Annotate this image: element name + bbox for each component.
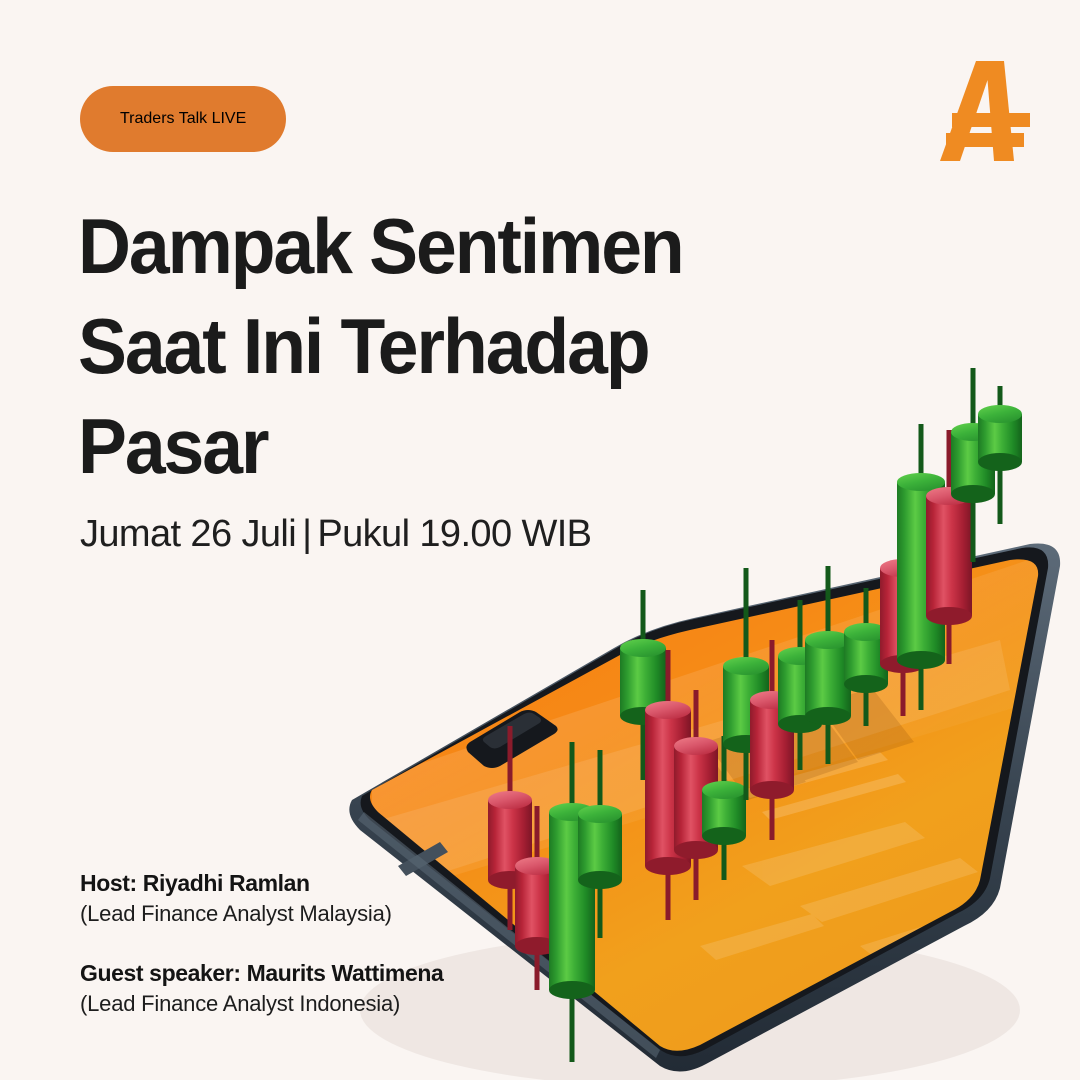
candle-bear-14 bbox=[880, 508, 926, 716]
guest-credit: Guest speaker: Maurits Wattimena (Lead F… bbox=[80, 958, 540, 1020]
candle-bull-9 bbox=[723, 568, 769, 800]
candle-bear-6 bbox=[645, 650, 691, 920]
host-name: Host: Riyadhi Ramlan bbox=[80, 868, 540, 898]
guest-name: Guest speaker: Maurits Wattimena bbox=[80, 958, 540, 988]
candle-bull-12 bbox=[805, 566, 851, 764]
promo-poster: Traders Talk LIVE Dampak Sentimen Saat I… bbox=[0, 0, 1080, 1080]
candle-bull-5 bbox=[620, 590, 666, 780]
candle-bear-7 bbox=[674, 690, 718, 900]
event-date: Jumat 26 Juli bbox=[80, 513, 296, 555]
candle-bull-8 bbox=[702, 736, 746, 880]
event-schedule: Jumat 26 Juli|Pukul 19.00 WIB bbox=[80, 513, 591, 556]
headline-line-1: Dampak Sentimen bbox=[78, 196, 764, 296]
event-time: Pukul 19.00 WIB bbox=[317, 513, 591, 555]
speaker-credits: Host: Riyadhi Ramlan (Lead Finance Analy… bbox=[80, 868, 540, 1020]
guest-role: (Lead Finance Analyst Indonesia) bbox=[80, 988, 540, 1020]
candle-bear-10 bbox=[750, 640, 794, 840]
candle-bull-3 bbox=[549, 742, 595, 1062]
schedule-separator: | bbox=[296, 513, 317, 555]
badge-label: Traders Talk LIVE bbox=[120, 110, 246, 128]
candle-bear-16 bbox=[926, 430, 972, 664]
traders-talk-live-badge[interactable]: Traders Talk LIVE bbox=[80, 86, 286, 152]
candle-bull-17 bbox=[951, 368, 995, 562]
headline-line-2: Saat Ini Terhadap bbox=[78, 296, 764, 396]
candle-bull-18 bbox=[978, 386, 1022, 524]
candle-bull-15 bbox=[897, 424, 945, 710]
host-credit: Host: Riyadhi Ramlan (Lead Finance Analy… bbox=[80, 868, 540, 930]
candle-bull-13 bbox=[844, 588, 888, 726]
host-role: (Lead Finance Analyst Malaysia) bbox=[80, 898, 540, 930]
headline-line-3: Pasar bbox=[78, 396, 764, 496]
candle-bull-11 bbox=[778, 600, 822, 770]
candle-bull-4 bbox=[578, 750, 622, 938]
page-title: Dampak Sentimen Saat Ini Terhadap Pasar bbox=[78, 196, 808, 496]
ascendex-a-logo bbox=[930, 55, 1040, 170]
